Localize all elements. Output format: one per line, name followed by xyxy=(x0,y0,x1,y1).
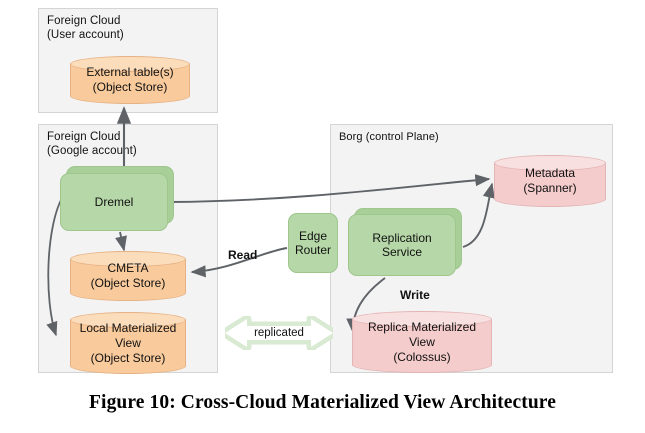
panel-label-borg: Borg (control Plane) xyxy=(339,130,439,144)
node-label-cmeta: CMETA (Object Store) xyxy=(70,251,186,301)
replicated-arrow-label: replicated xyxy=(225,316,333,350)
node-local-materialized-view[interactable]: Local Materialized View (Object Store) xyxy=(70,312,186,374)
node-label-local-materialized-view: Local Materialized View (Object Store) xyxy=(70,312,186,374)
node-label-metadata: Metadata (Spanner) xyxy=(494,155,606,207)
panel-label-google-account: Foreign Cloud (Google account) xyxy=(47,130,137,158)
node-external-tables[interactable]: External table(s) (Object Store) xyxy=(70,56,190,104)
edge-label-write: Write xyxy=(400,288,430,302)
node-label-replica-materialized-view: Replica Materialized View (Colossus) xyxy=(352,311,492,373)
figure-canvas: Foreign Cloud (User account) Foreign Clo… xyxy=(0,0,645,433)
node-replication-service[interactable]: Replication Service xyxy=(348,214,456,276)
edge-label-read: Read xyxy=(228,248,257,262)
node-metadata-spanner[interactable]: Metadata (Spanner) xyxy=(494,155,606,207)
node-label-external-tables: External table(s) (Object Store) xyxy=(70,56,190,104)
node-replica-materialized-view[interactable]: Replica Materialized View (Colossus) xyxy=(352,311,492,373)
node-dremel[interactable]: Dremel xyxy=(60,173,168,231)
node-edge-router[interactable]: Edge Router xyxy=(288,213,338,273)
figure-caption: Figure 10: Cross-Cloud Materialized View… xyxy=(0,392,645,414)
panel-label-user-account: Foreign Cloud (User account) xyxy=(47,14,124,42)
node-cmeta[interactable]: CMETA (Object Store) xyxy=(70,251,186,301)
